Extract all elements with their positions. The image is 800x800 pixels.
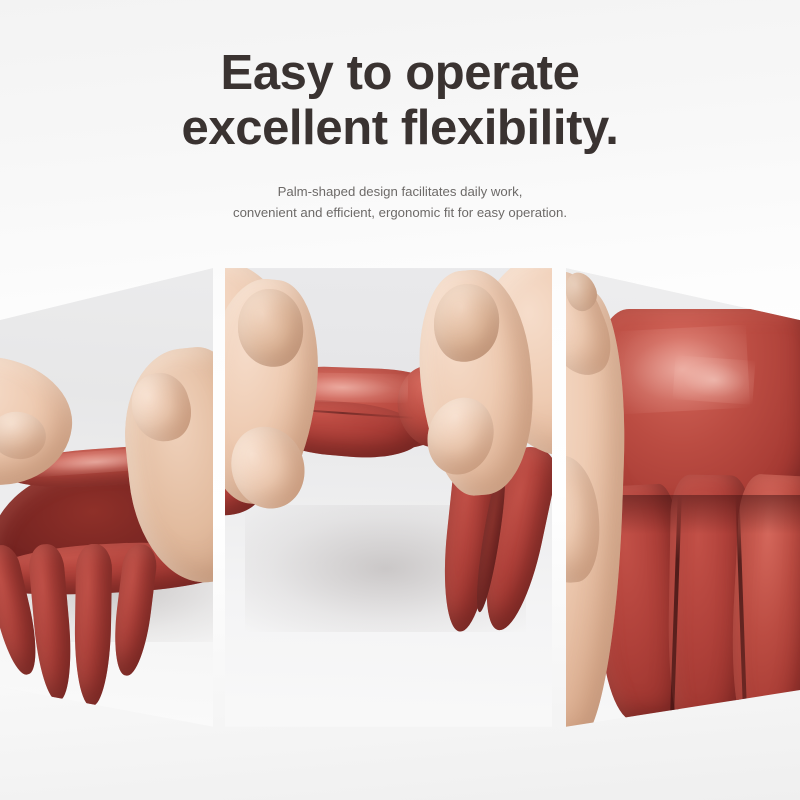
photo-glove-stretching xyxy=(225,250,552,740)
fingertip xyxy=(776,250,800,312)
photo-glove-opening xyxy=(0,250,213,740)
gallery-panel-3 xyxy=(566,250,800,740)
glove-fold xyxy=(728,473,800,732)
photo-glove-squeezing xyxy=(566,250,800,740)
gallery-panel-2 xyxy=(225,250,552,740)
gallery-panel-1 xyxy=(0,250,213,740)
feature-banner: Easy to operate excellent flexibility. P… xyxy=(0,0,800,800)
photo-gallery xyxy=(0,0,800,800)
